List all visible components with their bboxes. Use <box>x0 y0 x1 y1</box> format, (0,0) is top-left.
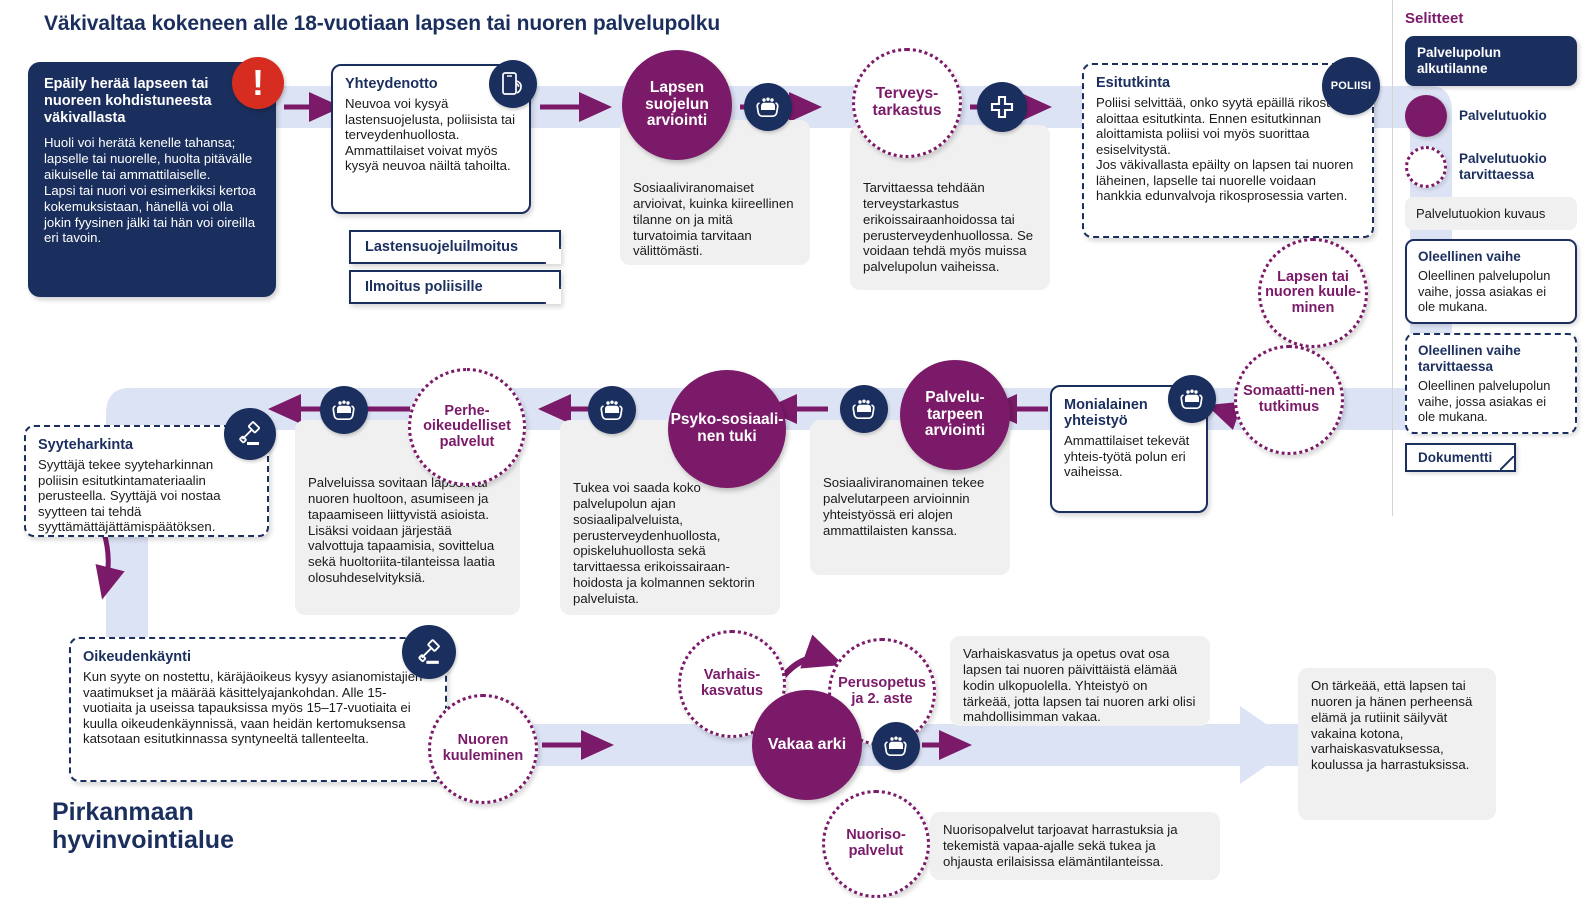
circle-lapsen-suojelun-arviointi[interactable]: Lapsen suojelun arviointi <box>622 50 732 160</box>
start-body: Huoli voi herätä kenelle tahansa; lapsel… <box>44 135 260 246</box>
circle-somaattinen-tutkimus[interactable]: Somaatti-nen tutkimus <box>1234 345 1344 455</box>
circle-label: Palvelu-tarpeen arviointi <box>900 390 1010 440</box>
circle-label: Nuoren kuuleminen <box>431 733 535 764</box>
page-title: Väkivaltaa kokeneen alle 18-vuotiaan lap… <box>44 12 720 36</box>
legend-essential-stage-if-needed-heading: Oleellinen vaihe tarvittaessa <box>1418 343 1564 375</box>
circle-label: Lapsen suojelun arviointi <box>622 80 732 130</box>
alert-symbol: ! <box>252 65 264 101</box>
syyteharkinta-body: Syyttäjä tekee syyteharkinnan poliisin e… <box>38 457 255 535</box>
syyteharkinta-heading: Syyteharkinta <box>38 437 255 453</box>
desc-loppu: On tärkeää, että lapsen tai nuoren ja hä… <box>1298 668 1496 820</box>
circle-lapsen-tai-nuoren-kuuleminen[interactable]: Lapsen tai nuoren kuule-minen <box>1258 238 1368 348</box>
police-badge-label: POLIISI <box>1331 80 1372 92</box>
stage-oikeudenkaynti: Oikeudenkäynti Kun syyte on nostettu, kä… <box>69 637 447 782</box>
circle-label: Psyko-sosiaali-nen tuki <box>668 412 786 445</box>
circle-label: Perhe-oikeudelliset palvelut <box>411 404 523 451</box>
caring-hands-icon <box>872 722 920 770</box>
circle-nuoren-kuuleminen[interactable]: Nuoren kuuleminen <box>428 694 538 804</box>
health-cross-icon <box>977 82 1027 132</box>
legend-service-session-if-needed-row: Palvelutuokio tarvittaessa <box>1405 146 1577 188</box>
legend-essential-stage-if-needed-body: Oleellinen palvelupolun vaihe, jossa asi… <box>1418 378 1564 424</box>
legend-essential-stage-body: Oleellinen palvelupolun vaihe, jossa asi… <box>1418 268 1564 314</box>
legend-essential-stage: Oleellinen vaihe Oleellinen palvelupolun… <box>1405 239 1577 324</box>
legend-essential-stage-heading: Oleellinen vaihe <box>1418 249 1564 265</box>
legend-start-state: Palvelupolun alkutilanne <box>1405 36 1577 86</box>
document-lastensuojeluilmoitus[interactable]: Lastensuojeluilmoitus <box>349 230 561 264</box>
circle-terveystarkastus[interactable]: Terveys-tarkastus <box>852 48 962 158</box>
gavel-icon <box>224 408 276 460</box>
arrow-syyteharkinta-to-oikeudenkaynti <box>104 533 108 588</box>
legend-title: Selitteet <box>1405 10 1577 27</box>
circle-label: Vakaa arki <box>768 736 846 753</box>
caring-hands-icon <box>1168 375 1216 423</box>
caring-hands-icon <box>320 386 368 434</box>
caring-hands-icon <box>840 385 888 433</box>
circle-perheoikeudelliset-palvelut[interactable]: Perhe-oikeudelliset palvelut <box>408 368 526 486</box>
circle-nuorisopalvelut[interactable]: Nuoriso-palvelut <box>822 790 930 898</box>
circle-label: Lapsen tai nuoren kuule-minen <box>1261 270 1365 317</box>
legend-essential-stage-if-needed: Oleellinen vaihe tarvittaessa Oleellinen… <box>1405 333 1577 434</box>
circle-vakaa-arki[interactable]: Vakaa arki <box>752 690 862 800</box>
organization-brand: Pirkanmaan hyvinvointialue <box>52 798 234 854</box>
document-ilmoitus-poliisille[interactable]: Ilmoitus poliisille <box>349 270 561 304</box>
alert-exclamation-icon: ! <box>232 57 284 109</box>
esitutkinta-heading: Esitutkinta <box>1096 75 1360 91</box>
desc-nuorisopalvelut: Nuorisopalvelut tarjoavat harrastuksia j… <box>930 812 1220 880</box>
legend-service-session-label: Palvelutuokio <box>1459 108 1547 124</box>
police-badge-icon: POLIISI <box>1322 57 1380 115</box>
diagram-canvas: Väkivaltaa kokeneen alle 18-vuotiaan lap… <box>0 0 1585 892</box>
oikeudenkaynti-body: Kun syyte on nostettu, käräjäoikeus kysy… <box>83 669 433 747</box>
circle-label: Terveys-tarkastus <box>855 86 959 119</box>
circle-palvelutarpeen-arviointi[interactable]: Palvelu-tarpeen arviointi <box>900 360 1010 470</box>
caring-hands-icon <box>744 83 792 131</box>
circle-label: Varhais-kasvatus <box>681 668 783 699</box>
legend-service-session-row: Palvelutuokio <box>1405 95 1577 137</box>
circle-label: Perusopetus ja 2. aste <box>831 676 933 707</box>
esitutkinta-body: Poliisi selvittää, onko syytä epäillä ri… <box>1096 95 1360 204</box>
desc-varhaiskasvatus-opetus: Varhaiskasvatus ja opetus ovat osa lapse… <box>950 636 1210 726</box>
legend-document-label: Dokumentti <box>1418 450 1492 465</box>
legend-dotted-circle-icon <box>1405 146 1447 188</box>
circle-label: Nuoriso-palvelut <box>825 828 927 859</box>
circle-psykososiaalinen-tuki[interactable]: Psyko-sosiaali-nen tuki <box>668 370 786 488</box>
monialainen-body: Ammattilaiset tekevät yhteis-työtä polun… <box>1064 433 1194 480</box>
yhteydenotto-body: Neuvoa voi kysyä lastensuojelusta, polii… <box>345 96 517 174</box>
circle-label: Somaatti-nen tutkimus <box>1237 384 1341 415</box>
caring-hands-icon <box>588 386 636 434</box>
legend-document: Dokumentti <box>1405 443 1516 472</box>
legend-panel: Selitteet Palvelupolun alkutilanne Palve… <box>1392 0 1585 516</box>
gavel-icon <box>402 625 456 679</box>
legend-description-box: Palvelutuokion kuvaus <box>1405 197 1577 231</box>
start-heading: Epäily herää lapseen tai nuoreen kohdist… <box>44 76 260 127</box>
legend-filled-circle-icon <box>1405 95 1447 137</box>
oikeudenkaynti-heading: Oikeudenkäynti <box>83 649 433 665</box>
legend-service-session-if-needed-label: Palvelutuokio tarvittaessa <box>1459 151 1577 183</box>
phone-in-hand-icon <box>489 60 537 108</box>
